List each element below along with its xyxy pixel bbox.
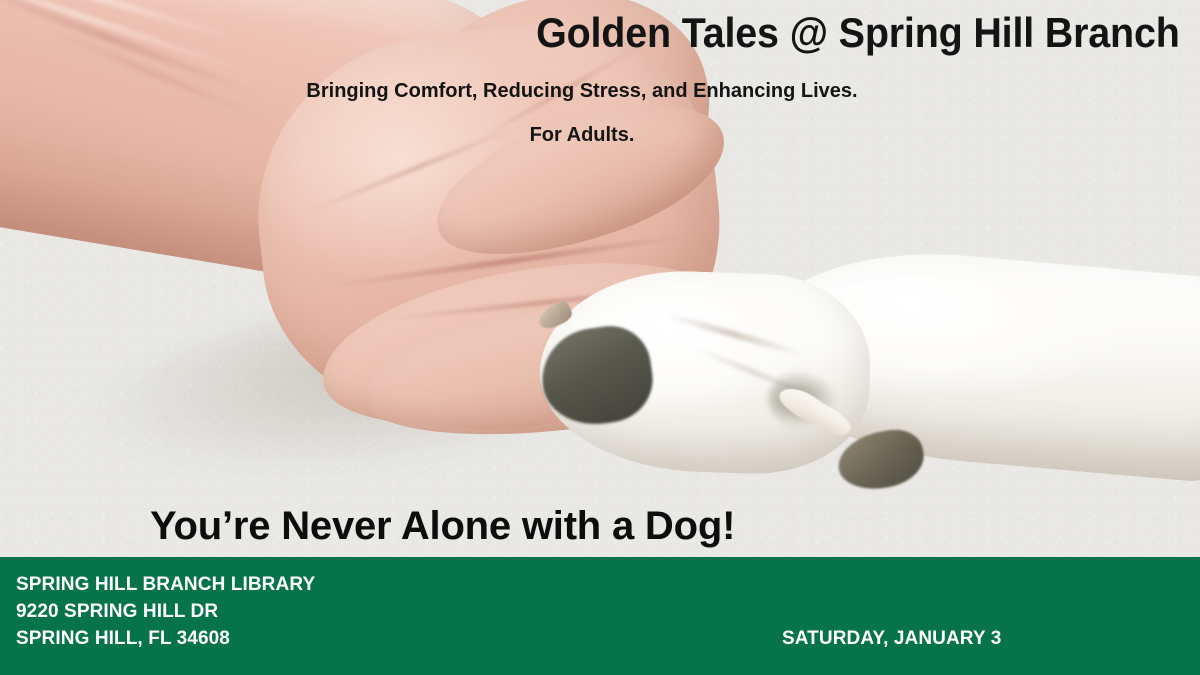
subtitle: Bringing Comfort, Reducing Stress, and E… bbox=[0, 80, 1164, 103]
library-name: SPRING HILL BRANCH LIBRARY bbox=[16, 571, 315, 598]
library-street: 9220 SPRING HILL DR bbox=[16, 598, 315, 625]
library-city: SPRING HILL, FL 34608 bbox=[16, 625, 315, 652]
page-title: Golden Tales @ Spring Hill Branch bbox=[536, 9, 1180, 57]
audience-note: For Adults. bbox=[0, 124, 1164, 147]
event-details-block: SATURDAY, JANUARY 3 10 A.M. - 11 A.M. SP… bbox=[782, 571, 1200, 675]
tagline: You’re Never Alone with a Dog! bbox=[150, 504, 735, 549]
toe-split bbox=[661, 310, 807, 358]
footer-banner: SPRING HILL BRANCH LIBRARY 9220 SPRING H… bbox=[0, 557, 1200, 675]
flyer-canvas: Golden Tales @ Spring Hill Branch Bringi… bbox=[0, 0, 1200, 675]
event-date: SATURDAY, JANUARY 3 bbox=[782, 625, 1200, 652]
library-address-block: SPRING HILL BRANCH LIBRARY 9220 SPRING H… bbox=[16, 571, 315, 652]
